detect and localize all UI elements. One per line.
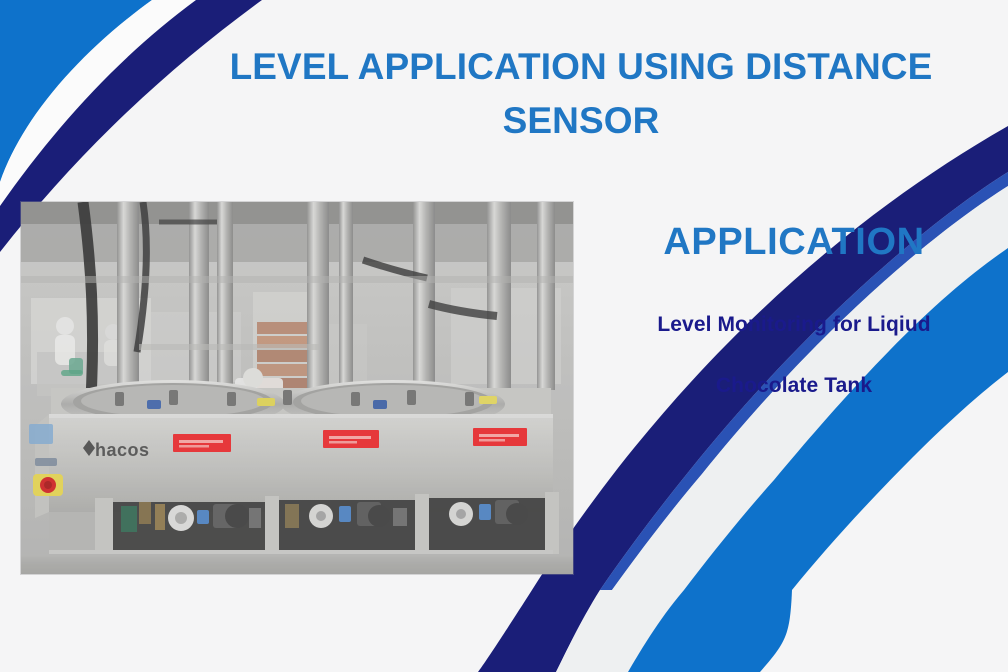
machine-photo-illustration: hacos <box>21 202 573 574</box>
swoosh-navy-tail-br <box>478 590 600 672</box>
swoosh-white-gap <box>0 0 196 206</box>
application-description-line-1: Level Monitoring for Liqiud <box>596 314 992 335</box>
application-block: APPLICATION Level Monitoring for Liqiud … <box>596 222 992 396</box>
slide-canvas: LEVEL APPLICATION USING DISTANCE SENSOR <box>0 0 1008 672</box>
page-title: LEVEL APPLICATION USING DISTANCE SENSOR <box>200 40 962 149</box>
swoosh-bright-blue-band <box>0 0 152 182</box>
title-block: LEVEL APPLICATION USING DISTANCE SENSOR <box>200 40 962 149</box>
swoosh-white-tail-br <box>556 590 684 672</box>
machine-photo: hacos <box>21 202 573 574</box>
application-description-line-2: Chocolate Tank <box>596 375 992 396</box>
swoosh-bright-tail-br <box>628 590 792 672</box>
application-description: Level Monitoring for Liqiud Chocolate Ta… <box>596 264 992 396</box>
application-heading: APPLICATION <box>596 222 992 264</box>
